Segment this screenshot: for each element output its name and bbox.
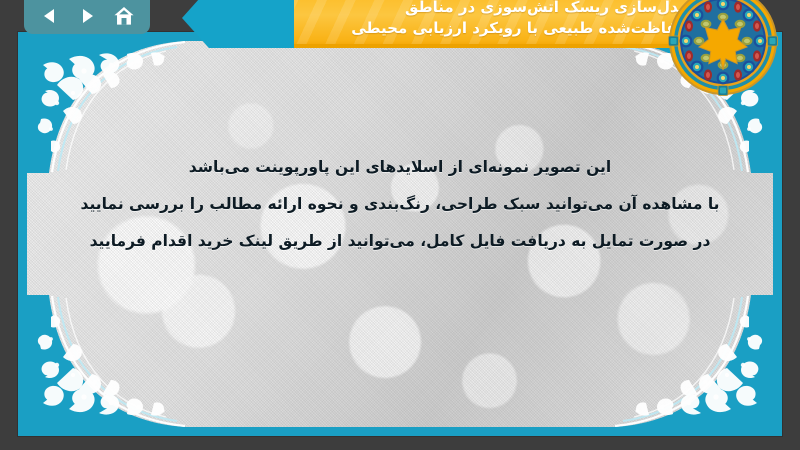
corner-ornament-bottom-left <box>27 295 187 427</box>
navigation-bar <box>24 0 150 34</box>
home-icon <box>113 5 135 27</box>
slide-title-line-2: حفاظت‌شده طبیعی با رویکرد ارزیابی محیطی <box>351 18 688 39</box>
triangle-right-icon <box>77 6 97 26</box>
body-line-2: با مشاهده آن می‌توانید سبک طراحی، رنگ‌بن… <box>67 186 733 223</box>
title-banner: مدل‌سازی ریسک آتش‌سوزی در مناطق حفاظت‌شد… <box>182 0 714 48</box>
corner-ornament-bottom-right <box>613 295 773 427</box>
slide-title-line-1: مدل‌سازی ریسک آتش‌سوزی در مناطق <box>405 0 688 18</box>
forward-button[interactable] <box>73 3 101 29</box>
slide-frame: این تصویر نمونه‌ای از اسلایدهای این پاور… <box>18 32 782 436</box>
home-button[interactable] <box>110 3 138 29</box>
body-line-1: این تصویر نمونه‌ای از اسلایدهای این پاور… <box>67 149 733 186</box>
back-button[interactable] <box>36 3 64 29</box>
triangle-left-icon <box>40 6 60 26</box>
slide-viewer: این تصویر نمونه‌ای از اسلایدهای این پاور… <box>0 0 800 450</box>
banner-body: مدل‌سازی ریسک آتش‌سوزی در مناطق حفاظت‌شد… <box>294 0 714 48</box>
banner-tail <box>182 0 294 48</box>
slide-canvas: این تصویر نمونه‌ای از اسلایدهای این پاور… <box>27 41 773 427</box>
slide-body-text: این تصویر نمونه‌ای از اسلایدهای این پاور… <box>67 149 733 260</box>
body-line-3: در صورت تمایل به دریافت فایل کامل، می‌تو… <box>67 223 733 260</box>
